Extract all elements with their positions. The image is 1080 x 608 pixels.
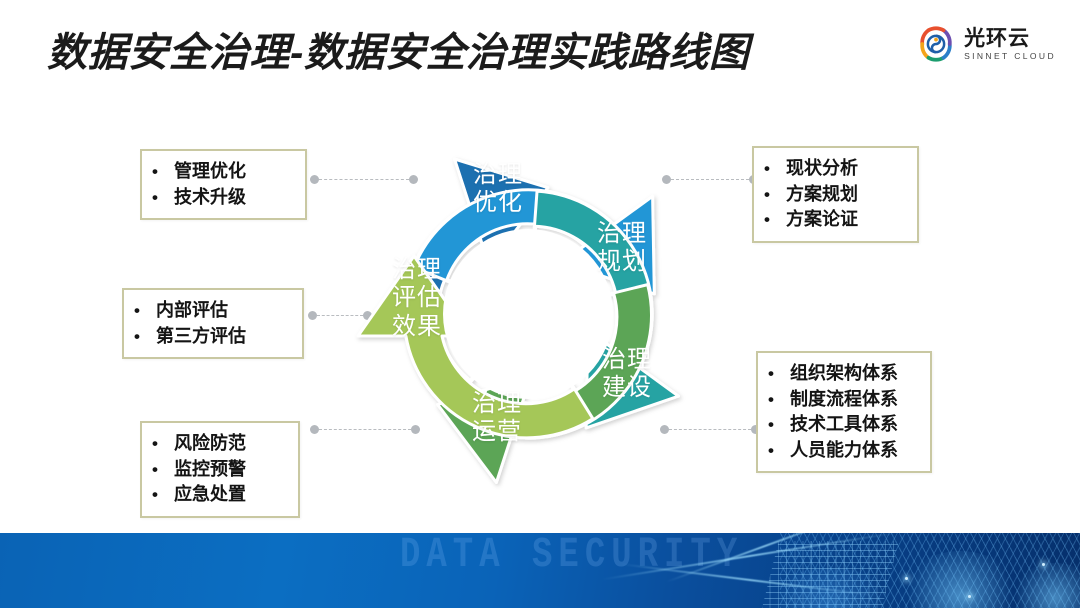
bullet-icon: •: [152, 189, 174, 206]
callout-box-left-bottom: •风险防范 •监控预警 •应急处置: [140, 421, 300, 518]
list-item: •管理优化: [152, 159, 291, 185]
list-item: •技术升级: [152, 185, 291, 211]
callout-list: •组织架构体系 •制度流程体系 •技术工具体系 •人员能力体系: [768, 361, 916, 463]
callout-list: •现状分析 •方案规划 •方案论证: [764, 156, 903, 233]
connector-dot: [310, 425, 319, 434]
logo-text-cn: 光环云: [964, 28, 1056, 49]
list-item: •制度流程体系: [768, 387, 916, 413]
bullet-icon: •: [152, 163, 174, 180]
page-title: 数据安全治理-数据安全治理实践路线图: [47, 20, 749, 78]
list-item: •方案论证: [764, 207, 903, 233]
list-item-label: 方案论证: [786, 207, 858, 233]
brand-logo: 光环云 SINNET CLOUD: [916, 24, 1056, 64]
bullet-icon: •: [764, 211, 786, 228]
banner-spark: [1042, 563, 1045, 566]
list-item-label: 管理优化: [174, 159, 246, 185]
slide-canvas: 数据安全治理-数据安全治理实践路线图 光环云 SINNET CLOUD: [0, 0, 1080, 608]
list-item-label: 风险防范: [174, 431, 246, 457]
bullet-icon: •: [152, 486, 174, 503]
sinnet-cloud-logo-icon: [916, 24, 956, 64]
connector-dot: [310, 175, 319, 184]
bullet-icon: •: [768, 365, 790, 382]
bullet-icon: •: [152, 461, 174, 478]
callout-box-right-bottom: •组织架构体系 •制度流程体系 •技术工具体系 •人员能力体系: [756, 351, 932, 473]
callout-box-right-top: •现状分析 •方案规划 •方案论证: [752, 146, 919, 243]
list-item-label: 内部评估: [156, 298, 228, 324]
callout-box-left-top: •管理优化 •技术升级: [140, 149, 307, 220]
callout-box-left-middle: •内部评估 •第三方评估: [122, 288, 304, 359]
list-item: •第三方评估: [134, 324, 288, 350]
bullet-icon: •: [152, 435, 174, 452]
bullet-icon: •: [768, 442, 790, 459]
list-item: •现状分析: [764, 156, 903, 182]
bullet-icon: •: [764, 186, 786, 203]
bullet-icon: •: [768, 391, 790, 408]
connector-dot: [308, 311, 317, 320]
list-item-label: 方案规划: [786, 182, 858, 208]
bullet-icon: •: [134, 328, 156, 345]
callout-list: •内部评估 •第三方评估: [134, 298, 288, 349]
list-item-label: 现状分析: [786, 156, 858, 182]
callout-list: •管理优化 •技术升级: [152, 159, 291, 210]
list-item: •技术工具体系: [768, 412, 916, 438]
callout-list: •风险防范 •监控预警 •应急处置: [152, 431, 284, 508]
bullet-icon: •: [134, 302, 156, 319]
footer-banner: DATA SECURITY: [0, 533, 1080, 608]
list-item: •监控预警: [152, 457, 284, 483]
logo-text-en: SINNET CLOUD: [964, 52, 1056, 61]
list-item: •组织架构体系: [768, 361, 916, 387]
list-item-label: 组织架构体系: [790, 361, 898, 387]
list-item-label: 监控预警: [174, 457, 246, 483]
list-item-label: 应急处置: [174, 482, 246, 508]
list-item-label: 技术工具体系: [790, 412, 898, 438]
bullet-icon: •: [764, 160, 786, 177]
governance-cycle-diagram: 治理 优化 治理 规划 治理 建设 治理 运营 治理 评估 效果: [342, 128, 714, 500]
list-item: •人员能力体系: [768, 438, 916, 464]
cycle-center-hub: [443, 229, 613, 399]
list-item: •风险防范: [152, 431, 284, 457]
banner-spark: [905, 577, 908, 580]
list-item-label: 第三方评估: [156, 324, 246, 350]
bullet-icon: •: [768, 416, 790, 433]
list-item-label: 人员能力体系: [790, 438, 898, 464]
list-item: •内部评估: [134, 298, 288, 324]
list-item-label: 技术升级: [174, 185, 246, 211]
list-item-label: 制度流程体系: [790, 387, 898, 413]
list-item: •方案规划: [764, 182, 903, 208]
banner-spark: [968, 595, 971, 598]
list-item: •应急处置: [152, 482, 284, 508]
